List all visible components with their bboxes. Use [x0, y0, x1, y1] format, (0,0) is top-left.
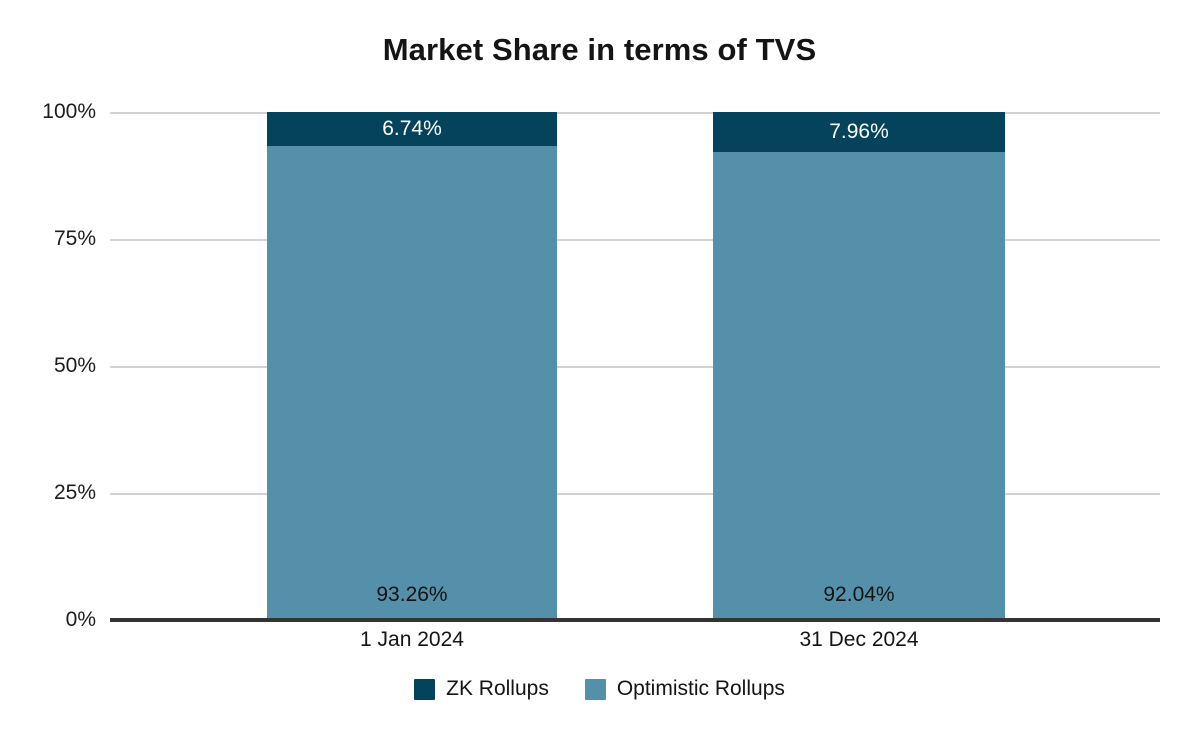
bar-segment-zk-rollups-1[interactable]: 6.74% [267, 112, 557, 146]
bar-label-optimistic-rollups-1: 93.26% [267, 583, 557, 607]
legend-item-zk-rollups[interactable]: ZK Rollups [414, 677, 549, 701]
legend-label-optimistic-rollups: Optimistic Rollups [617, 677, 785, 701]
bar-segment-optimistic-rollups-2[interactable]: 92.04% [713, 152, 1005, 620]
chart-legend: ZK Rollups Optimistic Rollups [0, 677, 1199, 701]
x-axis-category-label-1: 1 Jan 2024 [267, 628, 557, 652]
bar-segment-zk-rollups-2[interactable]: 7.96% [713, 112, 1005, 152]
y-tick-label-75: 75% [0, 227, 96, 251]
plot-area: 6.74% 93.26% 7.96% 92.04% [110, 112, 1160, 620]
legend-swatch-zk-rollups-icon [414, 679, 435, 700]
legend-swatch-optimistic-rollups-icon [585, 679, 606, 700]
x-axis-category-label-2: 31 Dec 2024 [713, 628, 1005, 652]
chart-container: Market Share in terms of TVS 100% 75% 50… [0, 0, 1199, 742]
y-tick-label-25: 25% [0, 481, 96, 505]
bar-label-zk-rollups-1: 6.74% [267, 117, 557, 141]
chart-title: Market Share in terms of TVS [0, 32, 1199, 68]
y-axis: 100% 75% 50% 25% 0% [0, 112, 96, 620]
bar-group-31-dec-2024[interactable]: 7.96% 92.04% [713, 112, 1005, 620]
bar-label-zk-rollups-2: 7.96% [713, 120, 1005, 144]
x-axis-baseline [110, 618, 1160, 622]
bar-segment-optimistic-rollups-1[interactable]: 93.26% [267, 146, 557, 620]
legend-label-zk-rollups: ZK Rollups [446, 677, 549, 701]
y-tick-label-0: 0% [0, 608, 96, 632]
y-tick-label-50: 50% [0, 354, 96, 378]
legend-item-optimistic-rollups[interactable]: Optimistic Rollups [585, 677, 785, 701]
bar-group-1-jan-2024[interactable]: 6.74% 93.26% [267, 112, 557, 620]
y-tick-label-100: 100% [0, 100, 96, 124]
bar-label-optimistic-rollups-2: 92.04% [713, 583, 1005, 607]
